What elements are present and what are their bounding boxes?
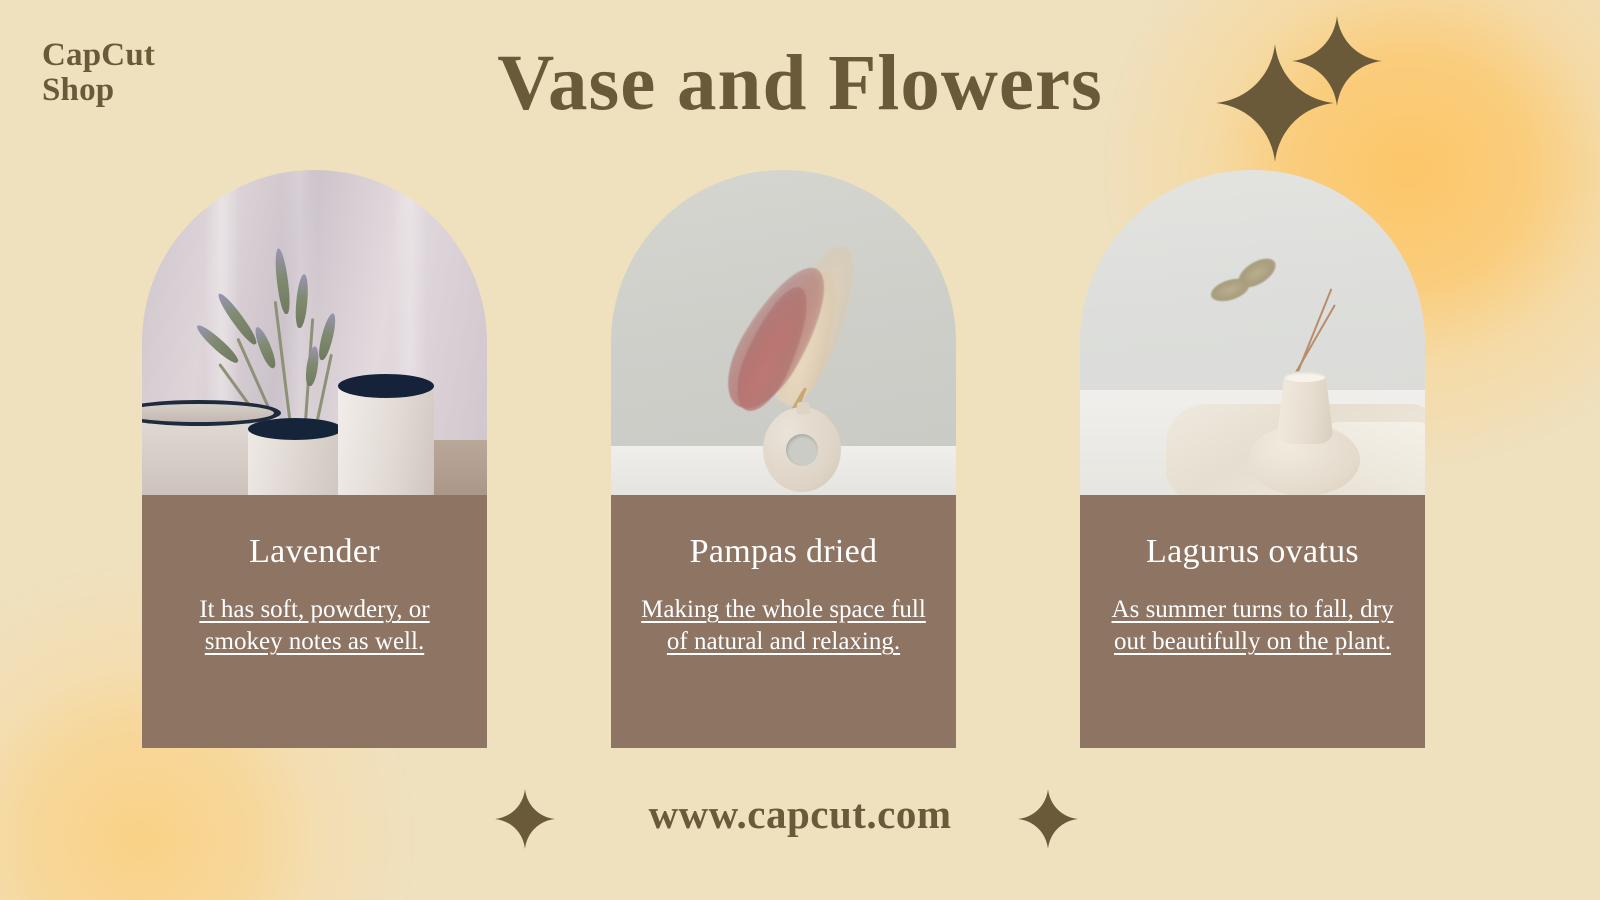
card-title: Pampas dried: [625, 533, 942, 570]
card-photo-pampas: [611, 170, 956, 510]
website-url[interactable]: www.capcut.com: [0, 790, 1600, 838]
card-photo-lavender: [142, 170, 487, 510]
card-description: Making the whole space full of natural a…: [625, 594, 942, 658]
product-card-list: Lavender It has soft, powdery, or smokey…: [142, 170, 1425, 748]
scene-lagurus: [1080, 170, 1425, 510]
product-card[interactable]: Lagurus ovatus As summer turns to fall, …: [1080, 170, 1425, 748]
scene-lavender: [142, 170, 487, 510]
poster-canvas: CapCut Shop Vase and Flowers: [0, 0, 1600, 900]
product-card[interactable]: Pampas dried Making the whole space full…: [611, 170, 956, 748]
card-caption: Lagurus ovatus As summer turns to fall, …: [1080, 495, 1425, 748]
card-title: Lagurus ovatus: [1094, 533, 1411, 570]
card-title: Lavender: [156, 533, 473, 570]
card-caption: Pampas dried Making the whole space full…: [611, 495, 956, 748]
scene-pampas: [611, 170, 956, 510]
card-photo-lagurus: [1080, 170, 1425, 510]
card-caption: Lavender It has soft, powdery, or smokey…: [142, 495, 487, 748]
card-description: It has soft, powdery, or smokey notes as…: [156, 594, 473, 658]
page-title: Vase and Flowers: [0, 44, 1600, 123]
product-card[interactable]: Lavender It has soft, powdery, or smokey…: [142, 170, 487, 748]
card-description: As summer turns to fall, dry out beautif…: [1094, 594, 1411, 658]
